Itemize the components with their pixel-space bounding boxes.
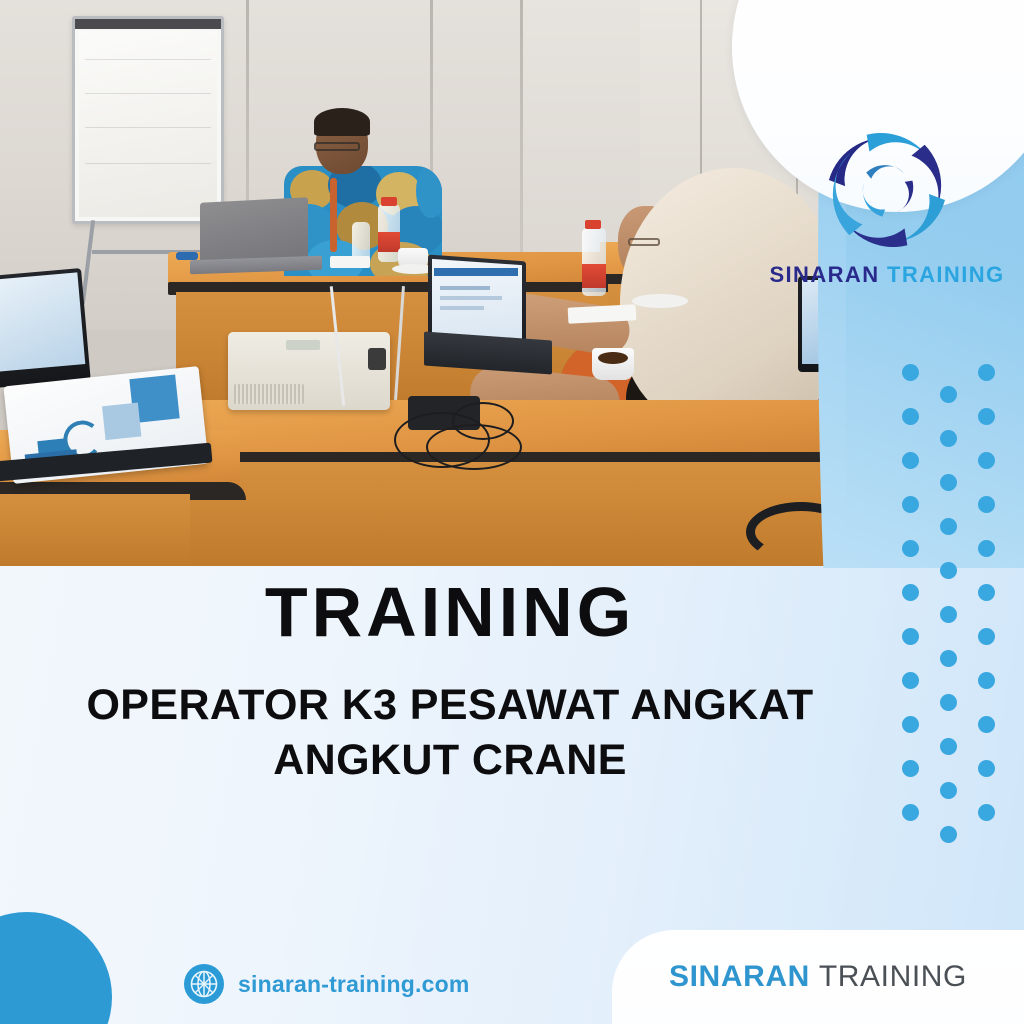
participant-glasses <box>628 238 660 246</box>
decor-dot <box>978 452 995 469</box>
marker-pen <box>176 252 198 260</box>
heading-block: TRAINING OPERATOR K3 PESAWAT ANGKAT ANGK… <box>0 576 900 788</box>
footer-brand: SINARAN TRAINING <box>669 960 967 994</box>
whiteboard-tray <box>75 19 221 29</box>
decor-dot <box>902 804 919 821</box>
saucer <box>632 294 688 308</box>
left-monitor <box>0 268 91 388</box>
decor-dot <box>978 408 995 425</box>
decor-dot <box>902 760 919 777</box>
bottle-label <box>378 232 400 252</box>
decor-dot <box>902 584 919 601</box>
decor-dot <box>940 738 957 755</box>
decor-dot <box>902 628 919 645</box>
sinaran-swirl-logo <box>811 126 963 258</box>
decor-dot <box>978 716 995 733</box>
decor-dot <box>978 672 995 689</box>
decor-dot <box>940 386 957 403</box>
decor-dot <box>940 694 957 711</box>
decor-dot <box>902 452 919 469</box>
papers <box>330 256 370 268</box>
footer-brand-training: TRAINING <box>819 960 967 993</box>
decor-dot <box>940 826 957 843</box>
page-title: TRAINING <box>0 576 900 650</box>
training-photo <box>0 0 860 566</box>
cable-loop <box>452 402 514 440</box>
footer-brand-panel: SINARAN TRAINING <box>612 930 1024 1024</box>
decor-dot <box>902 364 919 381</box>
decor-dot <box>902 672 919 689</box>
bottle-cap <box>585 220 601 229</box>
lanyard <box>330 178 337 252</box>
photo-scene <box>0 0 860 566</box>
whiteboard-sheet <box>79 31 217 217</box>
decor-dot <box>978 496 995 513</box>
decor-dot <box>902 540 919 557</box>
projector-lens <box>368 348 386 370</box>
dot-pattern <box>902 364 1010 820</box>
projector-vent <box>234 384 304 404</box>
logo-wordmark: SINARAN TRAINING <box>756 262 1018 288</box>
globe-icon <box>184 964 224 1004</box>
decor-dot <box>902 408 919 425</box>
bottle-cap <box>381 197 397 206</box>
decor-dot <box>940 474 957 491</box>
decor-dot <box>978 804 995 821</box>
whiteboard <box>72 16 224 224</box>
instructor-hair <box>314 108 370 136</box>
decor-dot <box>940 430 957 447</box>
decor-dot <box>978 628 995 645</box>
left-monitor-screen <box>0 272 85 371</box>
decor-dot <box>978 584 995 601</box>
brand-logo: SINARAN TRAINING <box>756 126 1018 288</box>
decor-dot <box>940 518 957 535</box>
left-desk-front <box>0 494 190 566</box>
decor-dot <box>940 606 957 623</box>
page-subtitle: OPERATOR K3 PESAWAT ANGKAT ANGKUT CRANE <box>0 678 900 788</box>
instructor-glasses <box>314 142 360 151</box>
logo-word-sinaran: SINARAN <box>769 262 879 287</box>
laptop-screen-header <box>434 268 518 276</box>
projector <box>228 332 390 410</box>
decor-dot <box>940 562 957 579</box>
footer-brand-sinaran: SINARAN <box>669 960 810 993</box>
website-text: sinaran-training.com <box>238 971 469 998</box>
decor-dot <box>978 364 995 381</box>
coffee-liquid <box>598 352 628 364</box>
bottle-label <box>582 264 606 288</box>
decor-dot <box>902 716 919 733</box>
decor-dot <box>940 650 957 667</box>
decor-dot <box>978 760 995 777</box>
decor-dot <box>902 496 919 513</box>
logo-word-training: TRAINING <box>887 262 1005 287</box>
website-link[interactable]: sinaran-training.com <box>184 964 469 1004</box>
training-poster: SINARAN TRAINING TRAINING OPERATOR K3 PE… <box>0 0 1024 1024</box>
decor-dot <box>978 540 995 557</box>
decor-dot <box>940 782 957 799</box>
